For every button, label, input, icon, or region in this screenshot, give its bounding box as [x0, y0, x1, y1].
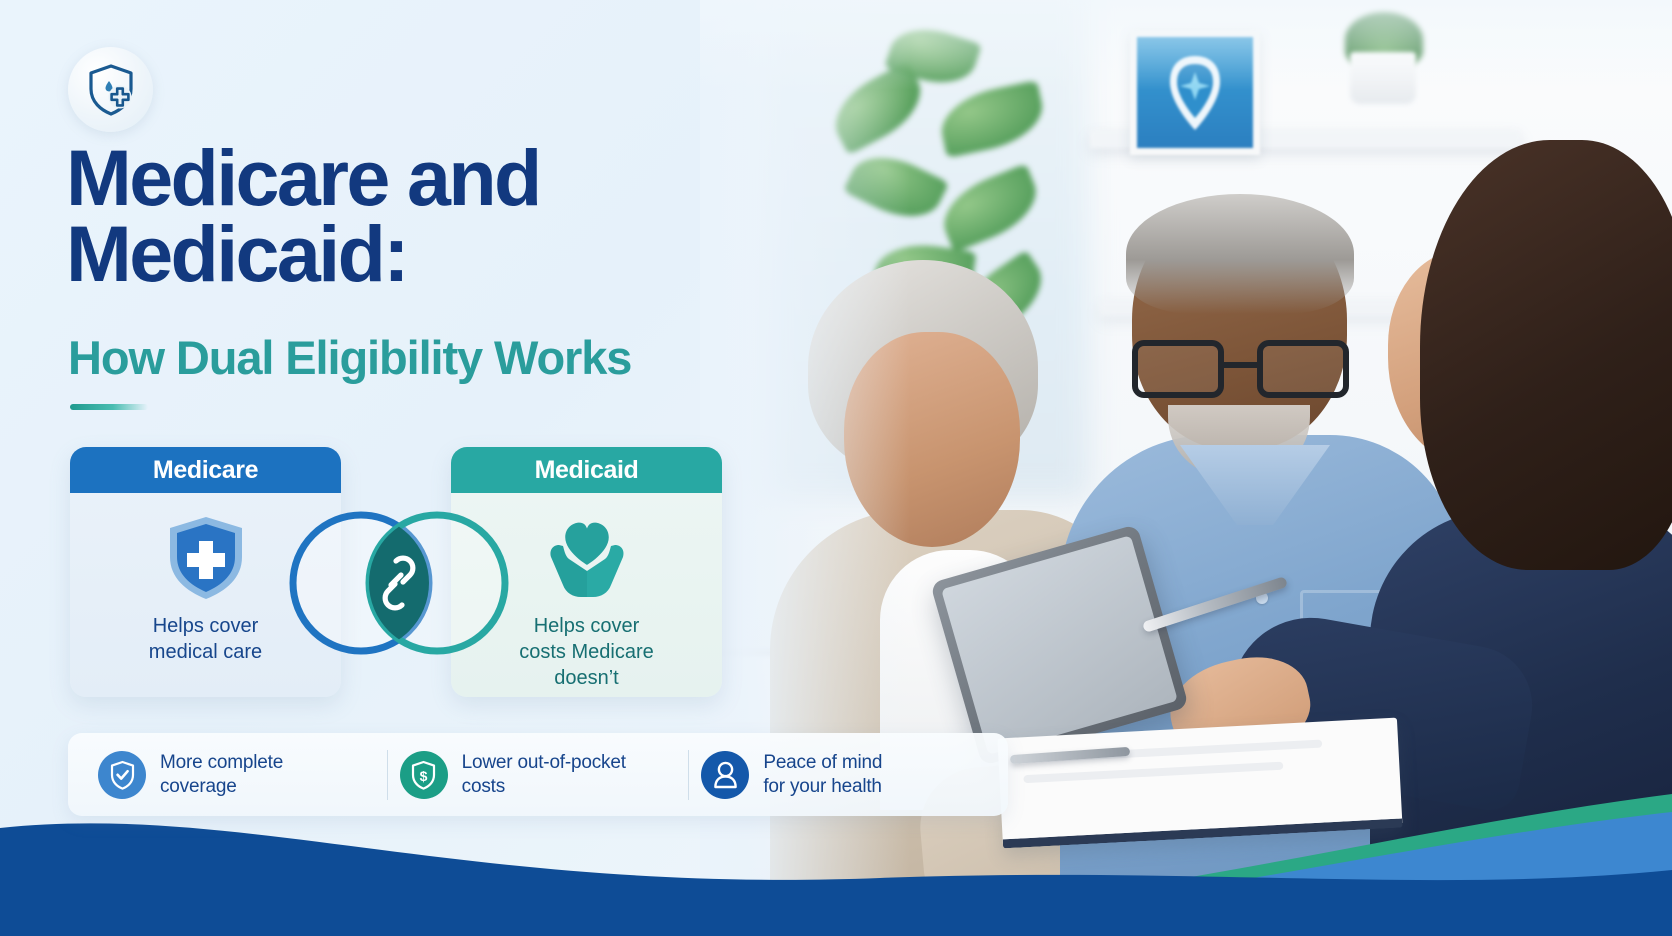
shield-plus-icon	[164, 515, 248, 601]
heart-in-hands-icon	[539, 515, 635, 601]
benefit-label-1: Lower out-of-pocketcosts	[462, 751, 626, 797]
benefit-item-more-complete-coverage[interactable]: More completecoverage	[86, 751, 387, 799]
card-medicaid-heading: Medicaid	[451, 447, 722, 493]
card-medicare-heading: Medicare	[70, 447, 341, 493]
shield-dollar-icon: $	[400, 751, 448, 799]
brand-logo-badge	[68, 47, 153, 132]
shield-medical-cross-icon	[85, 63, 137, 117]
benefit-label-0: More completecoverage	[160, 751, 283, 797]
page-title: Medicare and Medicaid:	[66, 140, 786, 292]
shield-check-icon	[98, 751, 146, 799]
photo-top-fade	[700, 0, 1672, 90]
person-icon	[701, 751, 749, 799]
accent-underline	[70, 404, 148, 410]
svg-text:$: $	[420, 768, 428, 784]
title-line-2: Medicaid:	[66, 209, 407, 298]
page-subtitle: How Dual Eligibility Works	[68, 330, 631, 385]
benefit-item-peace-of-mind[interactable]: Peace of mindfor your health	[689, 751, 990, 799]
infographic-canvas: Medicare and Medicaid: How Dual Eligibil…	[0, 0, 1672, 936]
benefit-item-lower-out-of-pocket-costs[interactable]: $ Lower out-of-pocketcosts	[388, 751, 689, 799]
benefit-label-2: Peace of mindfor your health	[763, 751, 882, 797]
eyeglasses	[1128, 340, 1353, 398]
benefits-bar: More completecoverage $ Lower out-of-poc…	[68, 733, 1008, 816]
card-medicare-description: Helps cover medical care	[149, 613, 262, 665]
venn-diagram	[287, 508, 511, 658]
card-medicaid-description: Helps cover costs Medicare doesn’t	[519, 613, 654, 691]
